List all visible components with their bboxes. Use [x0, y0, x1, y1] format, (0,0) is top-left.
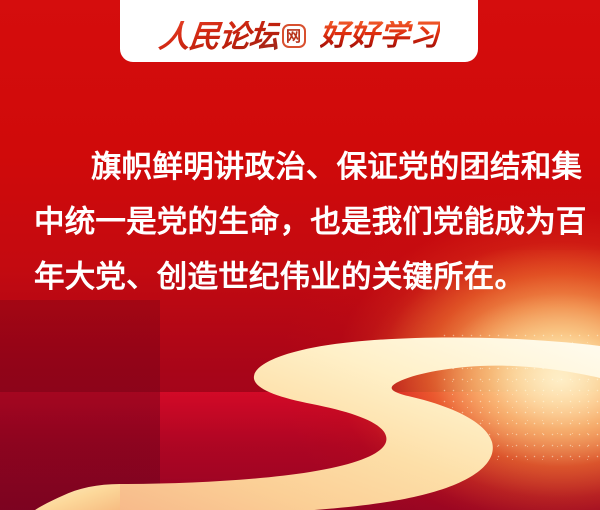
net-badge-icon: 网	[282, 24, 306, 48]
quote-line-1: 旗帜鲜明讲政治、保证党的团结和集	[34, 140, 568, 195]
quote-line-3: 年大党、创造世纪伟业的关键所在。	[34, 250, 568, 305]
brand-name-text: 人民论坛	[157, 21, 280, 52]
header-banner: 人民论坛 网 好好学习	[120, 0, 478, 62]
brand-mark: 人民论坛 网	[159, 21, 306, 52]
ribbon-foreground-sweep	[0, 300, 600, 510]
quote-line-2: 中统一是党的生命，也是我们党能成为百	[34, 195, 568, 250]
quote-block: 旗帜鲜明讲政治、保证党的团结和集 中统一是党的生命，也是我们党能成为百 年大党、…	[34, 140, 568, 305]
slogan-text: 好好学习	[320, 21, 440, 51]
brand-logo[interactable]: 人民论坛 网 好好学习	[159, 15, 440, 57]
poster-canvas: 人民论坛 网 好好学习 旗帜鲜明讲政治、保证党的团结和集 中统一是党的生命，也是…	[0, 0, 600, 510]
